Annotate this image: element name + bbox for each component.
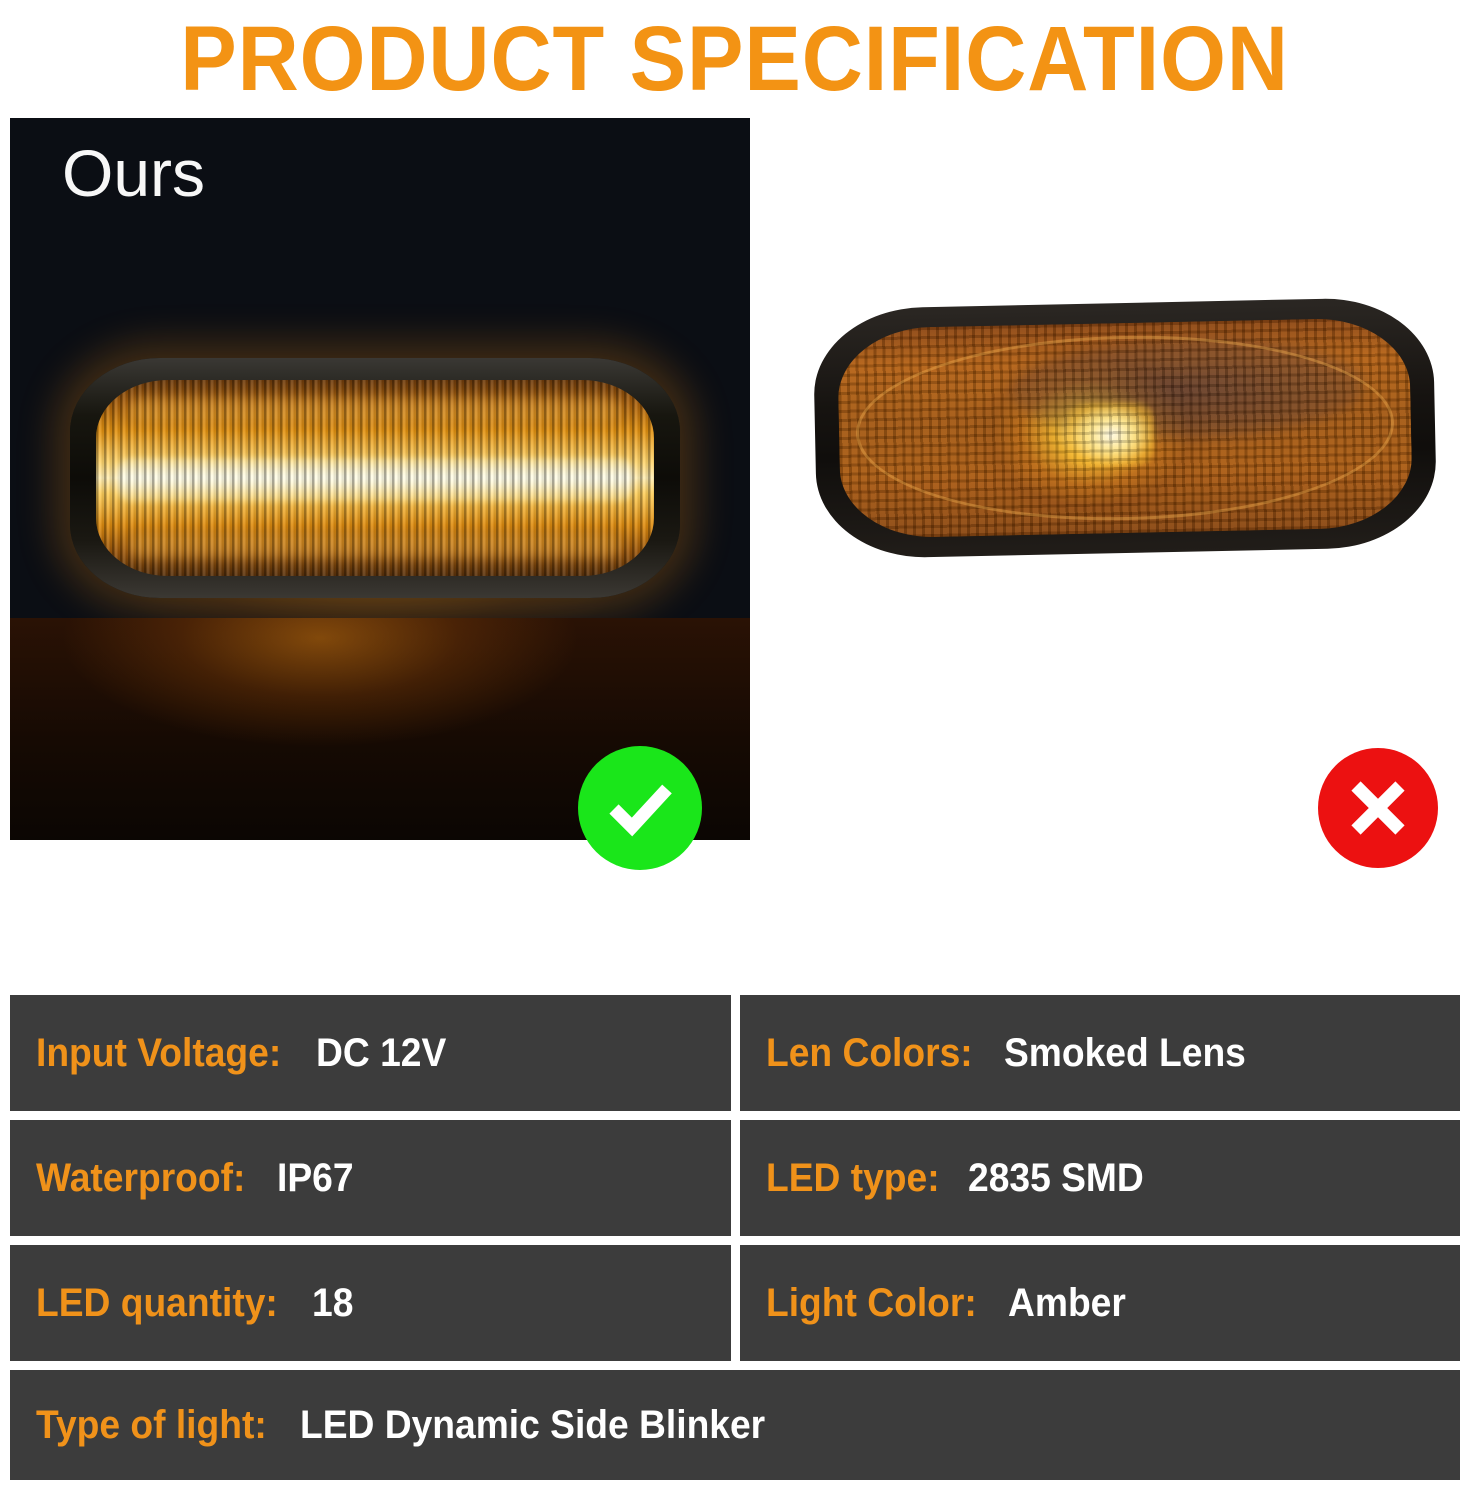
spec-row: Input Voltage: DC 12V Len Colors: Smoked… — [10, 995, 1460, 1111]
check-circle-icon — [578, 746, 702, 870]
page-header: PRODUCT SPECIFICATION — [0, 0, 1470, 118]
spec-label: LED quantity: — [36, 1281, 278, 1326]
ours-led-side-blinker-image — [70, 358, 680, 598]
spec-value: LED Dynamic Side Blinker — [300, 1403, 765, 1448]
page-title: PRODUCT SPECIFICATION — [181, 13, 1290, 105]
spec-label: Light Color: — [766, 1281, 977, 1326]
spec-label: LED type: — [766, 1156, 940, 1201]
spec-value: Amber — [1008, 1281, 1126, 1326]
product-comparison-section: Ours — [0, 118, 1470, 948]
spec-label: Waterproof: — [36, 1156, 245, 1201]
spec-label: Type of light: — [36, 1403, 267, 1448]
spec-value: 18 — [312, 1281, 353, 1326]
spec-cell-len-colors: Len Colors: Smoked Lens — [740, 995, 1461, 1111]
spec-row: Type of light: LED Dynamic Side Blinker — [10, 1370, 1460, 1480]
spec-row: Waterproof: IP67 LED type: 2835 SMD — [10, 1120, 1460, 1236]
spec-row: LED quantity: 18 Light Color: Amber — [10, 1245, 1460, 1361]
ours-lens-ribbing — [96, 380, 654, 576]
spec-cell-waterproof: Waterproof: IP67 — [10, 1120, 731, 1236]
spec-cell-led-type: LED type: 2835 SMD — [740, 1120, 1461, 1236]
spec-value: 2835 SMD — [968, 1156, 1144, 1201]
spec-label: Len Colors: — [766, 1031, 973, 1076]
ours-lens — [96, 380, 654, 576]
competitor-product-panel — [760, 118, 1460, 840]
competitor-lens — [837, 317, 1413, 539]
ours-label: Ours — [62, 140, 205, 206]
spec-cell-led-quantity: LED quantity: 18 — [10, 1245, 731, 1361]
spec-cell-type-of-light: Type of light: LED Dynamic Side Blinker — [10, 1370, 1460, 1480]
spec-value: DC 12V — [316, 1031, 446, 1076]
cross-circle-icon — [1318, 748, 1438, 868]
spec-label: Input Voltage: — [36, 1031, 281, 1076]
spec-cell-light-color: Light Color: Amber — [740, 1245, 1461, 1361]
spec-value: Smoked Lens — [1004, 1031, 1246, 1076]
competitor-side-marker-image — [812, 297, 1437, 560]
ours-product-panel: Ours — [10, 118, 750, 840]
specification-table: Input Voltage: DC 12V Len Colors: Smoked… — [10, 995, 1460, 1489]
spec-value: IP67 — [277, 1156, 354, 1201]
spec-cell-input-voltage: Input Voltage: DC 12V — [10, 995, 731, 1111]
